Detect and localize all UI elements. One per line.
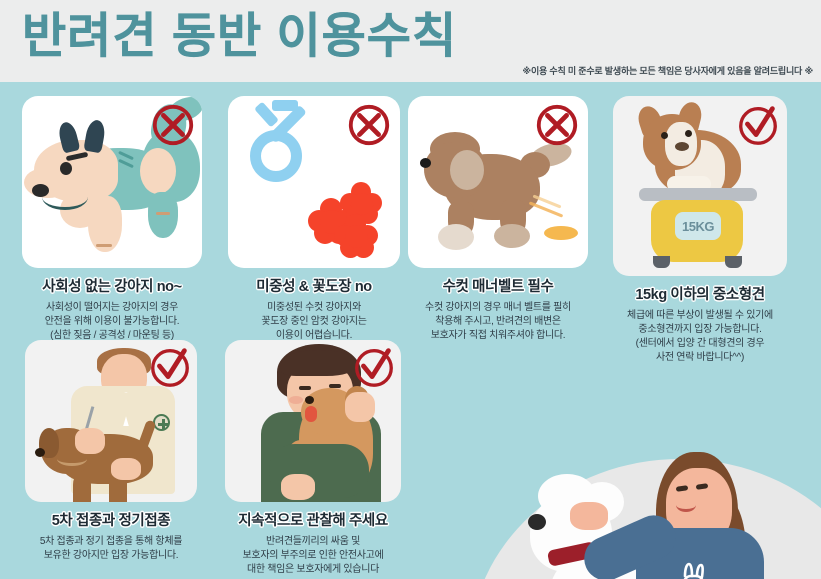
- card-illustration-poodle: [408, 96, 588, 268]
- rule-card-no-social-puppy[interactable]: 사회성 없는 강아지 no~ 사회성이 떨어지는 강아지의 경우 안전을 위해 …: [22, 96, 202, 343]
- scale-foot: [725, 256, 742, 268]
- dog-leg: [73, 476, 91, 502]
- owner-hand: [281, 474, 315, 500]
- prohibited-x-icon: [346, 102, 392, 148]
- girl-ear: [706, 498, 728, 524]
- dog-eye: [685, 130, 692, 137]
- girl-with-dog-illustration: [470, 442, 821, 579]
- desc-line: 수컷 강아지의 경우 매너 벨트를 필히: [408, 301, 588, 315]
- dog-paw-line: [96, 244, 112, 247]
- girl-smile: [676, 498, 696, 512]
- allowed-check-icon: [147, 344, 193, 390]
- card-illustration-angry-dog: [22, 96, 202, 268]
- white-dog-nose: [528, 514, 546, 530]
- desc-line: 보호자의 부주의로 인한 안전사고에: [218, 549, 408, 563]
- dog-paw-line: [156, 212, 170, 215]
- card-title: 지속적으로 관찰해 주세요: [218, 509, 408, 530]
- dog-paw: [438, 224, 474, 250]
- desc-line: 사전 연락 바랍니다^^): [602, 351, 798, 365]
- dog-mouth: [42, 184, 88, 210]
- desc-line: 안전을 위해 이용이 불가능합니다.: [22, 315, 202, 329]
- scale-display: 15KG: [675, 212, 721, 240]
- dog-eye: [661, 132, 668, 139]
- card-description: 미중성된 수컷 강아지와 꽃도장 중인 암컷 강아지는 이용이 어렵습니다.: [228, 301, 400, 343]
- card-description: 수컷 강아지의 경우 매너 벨트를 필히 착용해 주시고, 반려견의 배변은 보…: [408, 301, 588, 343]
- dog-tongue: [305, 406, 317, 422]
- girl-hand-petting: [570, 502, 608, 530]
- dog-ear: [450, 150, 484, 190]
- dog-snout: [675, 142, 689, 151]
- desc-line: 반려견들끼리의 싸움 및: [218, 535, 408, 549]
- owner-eye: [299, 386, 311, 390]
- male-symbol-arrow-head: [272, 100, 298, 111]
- card-illustration-vet: [25, 340, 197, 502]
- card-description: 체급에 따른 부상이 발생될 수 있기에 중소형견까지 입장 가능합니다. (센…: [602, 309, 798, 365]
- dog-nose: [420, 158, 431, 168]
- card-title: 수컷 매너벨트 필수: [408, 275, 588, 296]
- allowed-check-icon: [351, 344, 397, 390]
- desc-line: 사회성이 떨어지는 강아지의 경우: [22, 301, 202, 315]
- card-title: 5차 접종과 정기접종: [18, 509, 204, 530]
- prohibited-x-icon: [534, 102, 580, 148]
- card-description: 5차 접종과 정기 접종을 통해 항체를 보유한 강아지만 입장 가능합니다.: [18, 535, 204, 563]
- owner-hand: [345, 392, 375, 422]
- card-description: 사회성이 떨어지는 강아지의 경우 안전을 위해 이용이 불가능합니다. (심한…: [22, 301, 202, 343]
- dog-back-leg: [148, 192, 178, 238]
- urine-puddle: [544, 226, 578, 240]
- card-description: 반려견들끼리의 싸움 및 보호자의 부주의로 인한 안전사고에 대한 책임은 보…: [218, 535, 408, 577]
- allowed-check-icon: [735, 102, 781, 148]
- desc-line: 보호자가 직접 치워주셔야 합니다.: [408, 329, 588, 343]
- card-title: 사회성 없는 강아지 no~: [22, 275, 202, 296]
- prohibited-x-icon: [150, 102, 196, 148]
- scale-weight-value: 15KG: [682, 219, 714, 234]
- card-title: 15kg 이하의 중소형견: [602, 283, 798, 304]
- rules-board: 사회성 없는 강아지 no~ 사회성이 떨어지는 강아지의 경우 안전을 위해 …: [0, 82, 821, 579]
- blood-flower-icon: [334, 214, 378, 258]
- desc-line: 중소형견까지 입장 가능합니다.: [602, 323, 798, 337]
- vet-hand: [75, 428, 105, 454]
- dog-nose: [35, 448, 45, 457]
- card-illustration-corgi-scale: 15KG: [613, 96, 787, 276]
- owner-cheek: [289, 396, 303, 404]
- dog-spot-shape: [140, 148, 176, 194]
- rule-card-manner-belt[interactable]: 수컷 매너벨트 필수 수컷 강아지의 경우 매너 벨트를 필히 착용해 주시고,…: [408, 96, 588, 343]
- card-title: 미중성 & 꽃도장 no: [228, 275, 400, 296]
- dog-eye: [60, 162, 72, 175]
- page-title: 반려견 동반 이용수칙: [22, 6, 457, 68]
- desc-line: 보유한 강아지만 입장 가능합니다.: [18, 549, 204, 563]
- poster: 반려견 동반 이용수칙 ※이용 수칙 미 준수로 발생하는 모든 책임은 당사자…: [0, 0, 821, 579]
- disclaimer-note: ※이용 수칙 미 준수로 발생하는 모든 책임은 당사자에게 있음을 알려드립니…: [522, 64, 813, 77]
- dog-paw: [494, 224, 530, 248]
- scale-foot: [653, 256, 670, 268]
- rule-card-vaccination[interactable]: 5차 접종과 정기접종 5차 접종과 정기 접종을 통해 항체를 보유한 강아지…: [18, 340, 204, 563]
- desc-line: 꽃도장 중인 암컷 강아지는: [228, 315, 400, 329]
- desc-line: 대한 책임은 보호자에게 있습니다: [218, 563, 408, 577]
- dog-collar: [57, 452, 87, 466]
- bunny-print-icon: [676, 562, 710, 579]
- rule-card-under-15kg[interactable]: 15KG 15kg 이하의 중소형견 체급에 따른 부상이 발생될 수 있기에 …: [602, 96, 798, 365]
- dog-nose: [305, 396, 314, 404]
- poster-header: 반려견 동반 이용수칙 ※이용 수칙 미 준수로 발생하는 모든 책임은 당사자…: [0, 0, 821, 82]
- vet-hand: [111, 458, 141, 480]
- medical-cross-icon: [153, 414, 170, 431]
- desc-line: 5차 접종과 정기 접종을 통해 항체를: [18, 535, 204, 549]
- desc-line: 착용해 주시고, 반려견의 배변은: [408, 315, 588, 329]
- rule-card-keep-watching[interactable]: 지속적으로 관찰해 주세요 반려견들끼리의 싸움 및 보호자의 부주의로 인한 …: [218, 340, 408, 577]
- desc-line: 체급에 따른 부상이 발생될 수 있기에: [602, 309, 798, 323]
- owner-fringe: [281, 350, 357, 376]
- rule-card-no-unneutered-heat[interactable]: 미중성 & 꽃도장 no 미중성된 수컷 강아지와 꽃도장 중인 암컷 강아지는…: [228, 96, 400, 343]
- desc-line: 미중성된 수컷 강아지와: [228, 301, 400, 315]
- desc-line: (센터에서 입양 간 대형견의 경우: [602, 337, 798, 351]
- card-illustration-man-holding-dog: [225, 340, 401, 502]
- card-illustration-male-symbol: [228, 96, 400, 268]
